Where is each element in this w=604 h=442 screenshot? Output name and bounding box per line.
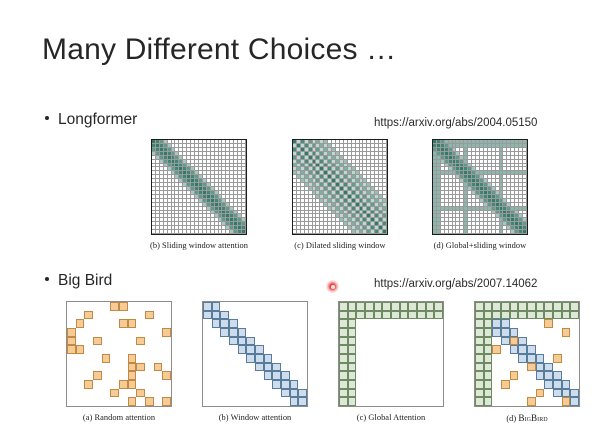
matrix-cell — [162, 371, 171, 380]
caption-global-attention: (c) Global Attention — [357, 413, 425, 422]
matrix-cell — [570, 389, 579, 398]
matrix-cell — [434, 319, 443, 328]
matrix-cell — [536, 397, 545, 406]
matrix-cell — [154, 363, 163, 372]
matrix-cell — [246, 380, 255, 389]
matrix-cell — [110, 380, 119, 389]
matrix-cell — [93, 311, 102, 320]
matrix-cell — [154, 337, 163, 346]
matrix-cell — [264, 337, 273, 346]
matrix-cell — [365, 371, 374, 380]
matrix-cell — [145, 302, 154, 311]
matrix-cell — [570, 328, 579, 337]
matrix-cell — [264, 389, 273, 398]
matrix-cell — [339, 389, 348, 398]
matrix-cell — [553, 345, 562, 354]
caption-bigbird: (d) BigBird — [506, 413, 547, 423]
matrix-cell — [501, 337, 510, 346]
matrix-cell — [154, 380, 163, 389]
matrix-cell — [220, 302, 229, 311]
matrix-cell — [110, 319, 119, 328]
matrix-cell — [76, 354, 85, 363]
matrix-cell — [374, 380, 383, 389]
matrix-cell — [93, 345, 102, 354]
matrix-cell — [544, 328, 553, 337]
matrix-cell — [382, 397, 391, 406]
matrix-cell — [229, 311, 238, 320]
matrix-cell — [246, 328, 255, 337]
matrix-cell — [238, 311, 247, 320]
matrix-cell — [212, 380, 221, 389]
matrix-cell — [426, 354, 435, 363]
matrix-cell — [136, 371, 145, 380]
matrix-cell — [290, 319, 299, 328]
matrix-cell — [128, 397, 137, 406]
figure-window-attention: (b) Window attention — [202, 301, 308, 423]
matrix-cell — [475, 311, 484, 320]
matrix-cell — [290, 389, 299, 398]
matrix-cell — [417, 345, 426, 354]
matrix-cell — [434, 345, 443, 354]
matrix-cell — [518, 363, 527, 372]
matrix-cell — [246, 354, 255, 363]
matrix-cell — [119, 311, 128, 320]
matrix-cell — [492, 380, 501, 389]
matrix-cell — [356, 337, 365, 346]
matrix-cell — [536, 311, 545, 320]
matrix-cell — [518, 337, 527, 346]
matrix-cell — [212, 302, 221, 311]
matrix-cell — [553, 354, 562, 363]
matrix-cell — [84, 363, 93, 372]
matrix-cell — [339, 363, 348, 372]
link-longformer-arxiv[interactable]: https://arxiv.org/abs/2004.05150 — [374, 117, 537, 129]
matrix-cell — [220, 363, 229, 372]
matrix-cell — [527, 371, 536, 380]
matrix-cell — [255, 337, 264, 346]
matrix-cell — [93, 337, 102, 346]
matrix-cell — [553, 380, 562, 389]
matrix-cell — [229, 328, 238, 337]
matrix-cell — [348, 302, 357, 311]
matrix-cell — [570, 371, 579, 380]
matrix-cell — [154, 311, 163, 320]
matrix-cell — [562, 363, 571, 372]
matrix-cell — [434, 397, 443, 406]
matrix-cell — [203, 319, 212, 328]
matrix-cell — [400, 319, 409, 328]
matrix-cell — [264, 397, 273, 406]
matrix-cell — [382, 389, 391, 398]
matrix-window-attention — [202, 301, 308, 407]
matrix-cell — [255, 302, 264, 311]
matrix-cell — [527, 397, 536, 406]
matrix-cell — [417, 397, 426, 406]
matrix-cell — [339, 371, 348, 380]
matrix-cell — [136, 302, 145, 311]
matrix-cell — [84, 311, 93, 320]
matrix-cell — [255, 363, 264, 372]
matrix-cell — [562, 345, 571, 354]
matrix-cell — [246, 363, 255, 372]
matrix-cell — [348, 337, 357, 346]
matrix-global-plus-sliding — [432, 139, 528, 235]
matrix-cell — [272, 311, 281, 320]
matrix-cell — [136, 389, 145, 398]
matrix-cell — [570, 311, 579, 320]
matrix-cell — [510, 302, 519, 311]
matrix-cell — [246, 397, 255, 406]
caption-bigbird-name: BigBird — [518, 413, 547, 423]
matrix-cell — [162, 328, 171, 337]
matrix-cell — [110, 354, 119, 363]
matrix-cell — [212, 354, 221, 363]
matrix-cell — [426, 389, 435, 398]
matrix-cell — [238, 337, 247, 346]
matrix-cell — [527, 319, 536, 328]
matrix-cell — [76, 319, 85, 328]
matrix-cell — [484, 319, 493, 328]
matrix-cell — [356, 397, 365, 406]
matrix-cell — [272, 328, 281, 337]
matrix-cell — [408, 354, 417, 363]
matrix-cell — [229, 354, 238, 363]
matrix-cell — [570, 337, 579, 346]
matrix-cell — [67, 302, 76, 311]
matrix-cell — [374, 345, 383, 354]
matrix-cell — [162, 354, 171, 363]
matrix-cell — [408, 345, 417, 354]
matrix-cell — [527, 380, 536, 389]
matrix-cell — [84, 380, 93, 389]
matrix-cell — [492, 328, 501, 337]
matrix-cell — [382, 328, 391, 337]
matrix-cell — [348, 380, 357, 389]
matrix-cell — [264, 371, 273, 380]
matrix-cell — [553, 397, 562, 406]
matrix-cell — [102, 319, 111, 328]
matrix-cell — [492, 345, 501, 354]
matrix-cell — [145, 328, 154, 337]
matrix-cell — [510, 311, 519, 320]
matrix-cell — [136, 311, 145, 320]
matrix-cell — [102, 389, 111, 398]
matrix-cell — [154, 319, 163, 328]
matrix-cell — [264, 380, 273, 389]
matrix-cell — [212, 319, 221, 328]
matrix-cell — [518, 371, 527, 380]
matrix-cell — [475, 354, 484, 363]
matrix-cell — [339, 302, 348, 311]
matrix-cell — [272, 371, 281, 380]
page-title: Many Different Choices … — [42, 33, 396, 67]
matrix-cell — [162, 363, 171, 372]
matrix-cell — [434, 363, 443, 372]
matrix-cell — [128, 302, 137, 311]
matrix-cell — [408, 389, 417, 398]
matrix-cell — [154, 371, 163, 380]
matrix-cell — [510, 389, 519, 398]
matrix-cell — [527, 311, 536, 320]
matrix-cell — [408, 363, 417, 372]
matrix-cell — [145, 311, 154, 320]
matrix-cell — [76, 337, 85, 346]
matrix-cell — [272, 397, 281, 406]
matrix-cell — [553, 371, 562, 380]
matrix-cell — [255, 371, 264, 380]
matrix-cell — [553, 363, 562, 372]
matrix-cell — [484, 337, 493, 346]
matrix-cell — [475, 389, 484, 398]
matrix-cell — [212, 363, 221, 372]
matrix-cell — [220, 354, 229, 363]
matrix-cell — [229, 389, 238, 398]
matrix-cell — [382, 363, 391, 372]
matrix-cell — [382, 337, 391, 346]
matrix-cell — [220, 328, 229, 337]
link-bigbird-arxiv[interactable]: https://arxiv.org/abs/2007.14062 — [374, 278, 537, 290]
matrix-cell — [339, 319, 348, 328]
matrix-cell — [264, 363, 273, 372]
matrix-cell — [475, 380, 484, 389]
matrix-cell — [162, 319, 171, 328]
matrix-cell — [220, 311, 229, 320]
matrix-cell — [391, 354, 400, 363]
matrix-cell — [110, 311, 119, 320]
matrix-cell — [67, 337, 76, 346]
matrix-cell — [426, 380, 435, 389]
matrix-cell — [348, 328, 357, 337]
matrix-cell — [408, 397, 417, 406]
matrix-cell — [492, 337, 501, 346]
matrix-cell — [290, 380, 299, 389]
matrix-cell — [492, 389, 501, 398]
matrix-cell — [501, 389, 510, 398]
matrix-cell — [203, 345, 212, 354]
matrix-dilated-sliding-window — [292, 139, 388, 235]
matrix-cell — [356, 389, 365, 398]
matrix-cell — [518, 389, 527, 398]
matrix-cell — [102, 380, 111, 389]
matrix-cell — [492, 302, 501, 311]
matrix-cell — [203, 311, 212, 320]
matrix-cell — [348, 345, 357, 354]
matrix-cell — [570, 302, 579, 311]
matrix-cell — [434, 389, 443, 398]
bullet-label-bigbird: Big Bird — [58, 272, 112, 290]
matrix-cell — [238, 389, 247, 398]
matrix-cell — [128, 337, 137, 346]
matrix-cell — [356, 354, 365, 363]
matrix-cell — [492, 319, 501, 328]
matrix-cell — [102, 371, 111, 380]
matrix-cell — [365, 311, 374, 320]
matrix-cell — [536, 380, 545, 389]
matrix-cell — [290, 345, 299, 354]
matrix-cell — [242, 230, 246, 234]
matrix-cell — [527, 389, 536, 398]
matrix-cell — [475, 302, 484, 311]
matrix-cell — [84, 328, 93, 337]
matrix-cell — [290, 397, 299, 406]
matrix-cell — [67, 311, 76, 320]
matrix-cell — [365, 380, 374, 389]
matrix-cell — [510, 380, 519, 389]
matrix-cell — [544, 363, 553, 372]
matrix-cell — [417, 354, 426, 363]
bullet-longformer: Longformer — [45, 111, 137, 129]
matrix-cell — [408, 311, 417, 320]
matrix-cell — [298, 345, 307, 354]
matrix-cell — [510, 397, 519, 406]
matrix-cell — [339, 345, 348, 354]
matrix-cell — [220, 380, 229, 389]
matrix-cell — [290, 363, 299, 372]
matrix-cell — [510, 371, 519, 380]
matrix-cell — [281, 380, 290, 389]
matrix-cell — [67, 354, 76, 363]
matrix-cell — [246, 319, 255, 328]
matrix-cell — [408, 328, 417, 337]
matrix-cell — [298, 354, 307, 363]
matrix-cell — [518, 397, 527, 406]
matrix-cell — [408, 319, 417, 328]
matrix-cell — [93, 319, 102, 328]
matrix-cell — [348, 363, 357, 372]
matrix-cell — [136, 337, 145, 346]
matrix-cell — [128, 319, 137, 328]
matrix-cell — [562, 328, 571, 337]
matrix-cell — [119, 345, 128, 354]
matrix-cell — [162, 380, 171, 389]
matrix-cell — [518, 345, 527, 354]
matrix-cell — [229, 363, 238, 372]
matrix-cell — [492, 371, 501, 380]
matrix-cell — [220, 337, 229, 346]
matrix-cell — [356, 319, 365, 328]
matrix-cell — [417, 319, 426, 328]
matrix-cell — [136, 354, 145, 363]
matrix-cell — [400, 380, 409, 389]
matrix-cell — [272, 363, 281, 372]
matrix-cell — [475, 328, 484, 337]
matrix-cell — [510, 345, 519, 354]
matrix-cell — [229, 302, 238, 311]
matrix-cell — [382, 302, 391, 311]
matrix-cell — [154, 397, 163, 406]
matrix-cell — [518, 380, 527, 389]
matrix-cell — [501, 354, 510, 363]
figure-sliding-window: (b) Sliding window attention — [150, 139, 248, 250]
matrix-cell — [162, 302, 171, 311]
matrix-cell — [553, 302, 562, 311]
matrix-cell — [212, 371, 221, 380]
matrix-cell — [119, 380, 128, 389]
matrix-cell — [298, 302, 307, 311]
matrix-cell — [110, 371, 119, 380]
matrix-cell — [536, 319, 545, 328]
matrix-cell — [203, 302, 212, 311]
matrix-cell — [562, 397, 571, 406]
matrix-cell — [84, 345, 93, 354]
matrix-cell — [382, 345, 391, 354]
matrix-cell — [518, 354, 527, 363]
matrix-cell — [67, 397, 76, 406]
matrix-cell — [229, 319, 238, 328]
matrix-cell — [417, 337, 426, 346]
matrix-cell — [356, 345, 365, 354]
matrix-cell — [570, 319, 579, 328]
matrix-cell — [281, 328, 290, 337]
matrix-cell — [510, 337, 519, 346]
matrix-cell — [400, 345, 409, 354]
matrix-cell — [76, 397, 85, 406]
matrix-cell — [255, 319, 264, 328]
matrix-cell — [484, 354, 493, 363]
matrix-cell — [408, 371, 417, 380]
matrix-cell — [229, 397, 238, 406]
matrix-cell — [391, 397, 400, 406]
matrix-cell — [145, 337, 154, 346]
matrix-cell — [255, 354, 264, 363]
matrix-cell — [391, 319, 400, 328]
matrix-cell — [426, 337, 435, 346]
matrix-cell — [246, 389, 255, 398]
matrix-cell — [154, 389, 163, 398]
matrix-cell — [203, 337, 212, 346]
matrix-cell — [238, 397, 247, 406]
matrix-cell — [93, 302, 102, 311]
matrix-global-attention — [338, 301, 444, 407]
matrix-cell — [553, 311, 562, 320]
matrix-cell — [391, 389, 400, 398]
matrix-cell — [527, 302, 536, 311]
matrix-bigbird — [474, 301, 580, 407]
matrix-cell — [76, 302, 85, 311]
matrix-cell — [93, 389, 102, 398]
matrix-cell — [238, 380, 247, 389]
matrix-cell — [246, 302, 255, 311]
matrix-cell — [365, 354, 374, 363]
matrix-cell — [119, 328, 128, 337]
figure-random-attention: (a) Random attention — [66, 301, 172, 423]
matrix-cell — [400, 302, 409, 311]
matrix-cell — [154, 302, 163, 311]
matrix-cell — [298, 328, 307, 337]
matrix-cell — [246, 371, 255, 380]
matrix-cell — [220, 371, 229, 380]
matrix-cell — [348, 319, 357, 328]
matrix-cell — [136, 363, 145, 372]
matrix-cell — [110, 337, 119, 346]
matrix-cell — [145, 371, 154, 380]
matrix-cell — [484, 389, 493, 398]
matrix-cell — [154, 354, 163, 363]
matrix-cell — [119, 337, 128, 346]
matrix-cell — [162, 311, 171, 320]
matrix-cell — [356, 328, 365, 337]
matrix-cell — [426, 371, 435, 380]
matrix-cell — [391, 363, 400, 372]
matrix-cell — [298, 397, 307, 406]
bullet-dot-icon — [45, 116, 49, 120]
matrix-cell — [154, 328, 163, 337]
matrix-cell — [400, 397, 409, 406]
matrix-cell — [162, 389, 171, 398]
matrix-cell — [128, 311, 137, 320]
matrix-cell — [128, 328, 137, 337]
matrix-cell — [475, 319, 484, 328]
